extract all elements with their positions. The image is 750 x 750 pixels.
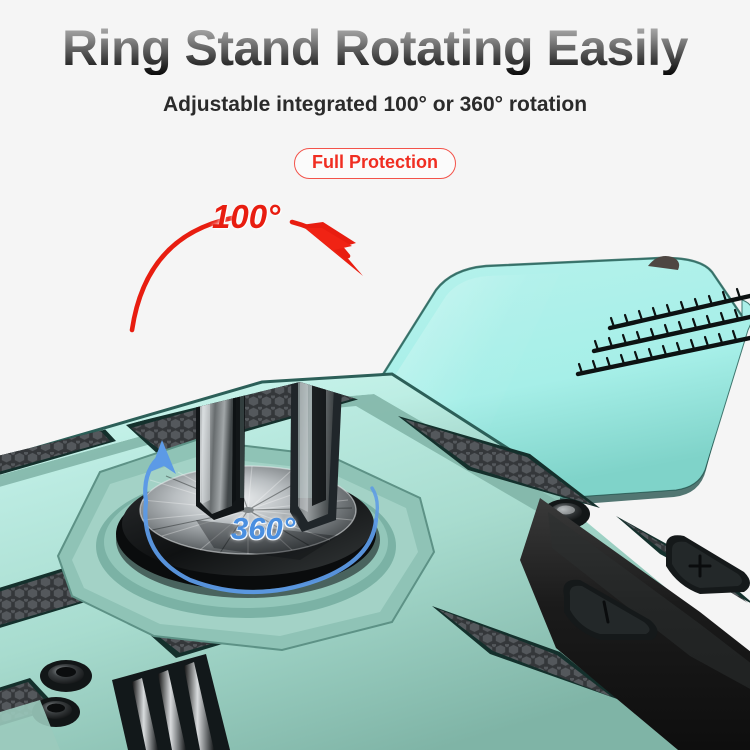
page-title: Ring Stand Rotating Easily [0, 22, 750, 75]
screw-details [32, 499, 590, 727]
volume-down-button[interactable] [563, 580, 657, 640]
camera-slider-cover [364, 256, 750, 506]
rotation-angle-label: 360° [231, 511, 295, 547]
product-marketing-image: Ring Stand Rotating Easily Adjustable in… [0, 0, 750, 750]
page-subtitle: Adjustable integrated 100° or 360° rotat… [0, 93, 750, 117]
side-bumper-rail [520, 498, 750, 750]
badge-container: Full Protection [0, 148, 750, 179]
bottom-slots [112, 654, 230, 750]
full-protection-badge: Full Protection [294, 148, 456, 179]
bottom-left-bumper [0, 700, 60, 750]
volume-up-button[interactable] [666, 535, 750, 594]
tilt-angle-label: 100° [212, 198, 280, 236]
hex-grip-strips [0, 367, 750, 744]
slider-grip-lines [578, 289, 750, 374]
phone-case-body [0, 260, 750, 750]
